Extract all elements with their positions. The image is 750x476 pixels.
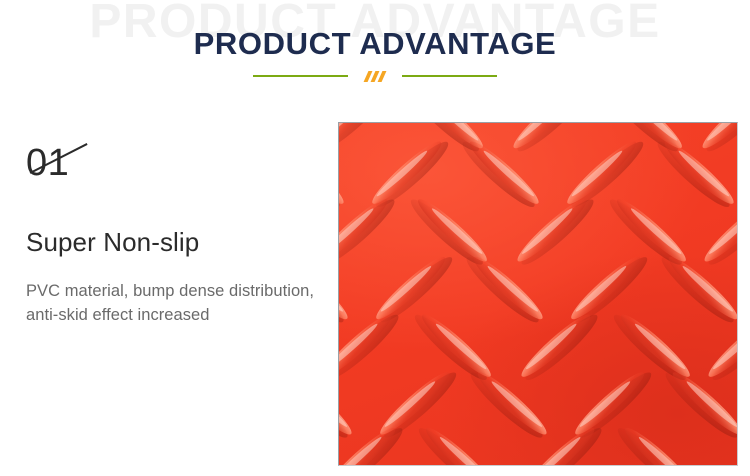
divider-line-right	[402, 75, 497, 77]
feature-number-block: 01	[26, 140, 136, 198]
diamond-plate-bump-pattern	[339, 123, 737, 465]
bump-row	[339, 251, 737, 328]
divider-slashes-icon	[366, 69, 384, 83]
header: PRODUCT ADVANTAGE PRODUCT ADVANTAGE	[0, 0, 750, 100]
divider-line-left	[253, 75, 348, 77]
page-title: PRODUCT ADVANTAGE	[0, 27, 750, 61]
product-advantage-banner: PRODUCT ADVANTAGE PRODUCT ADVANTAGE 01 S…	[0, 0, 750, 476]
feature-heading: Super Non-slip	[26, 226, 326, 258]
bump-row	[339, 422, 699, 465]
product-photo	[338, 122, 738, 466]
bump-row	[339, 136, 737, 213]
divider	[0, 66, 750, 86]
feature-info: 01 Super Non-slip PVC material, bump den…	[26, 140, 326, 327]
feature-description: PVC material, bump dense distribution, a…	[26, 279, 316, 327]
